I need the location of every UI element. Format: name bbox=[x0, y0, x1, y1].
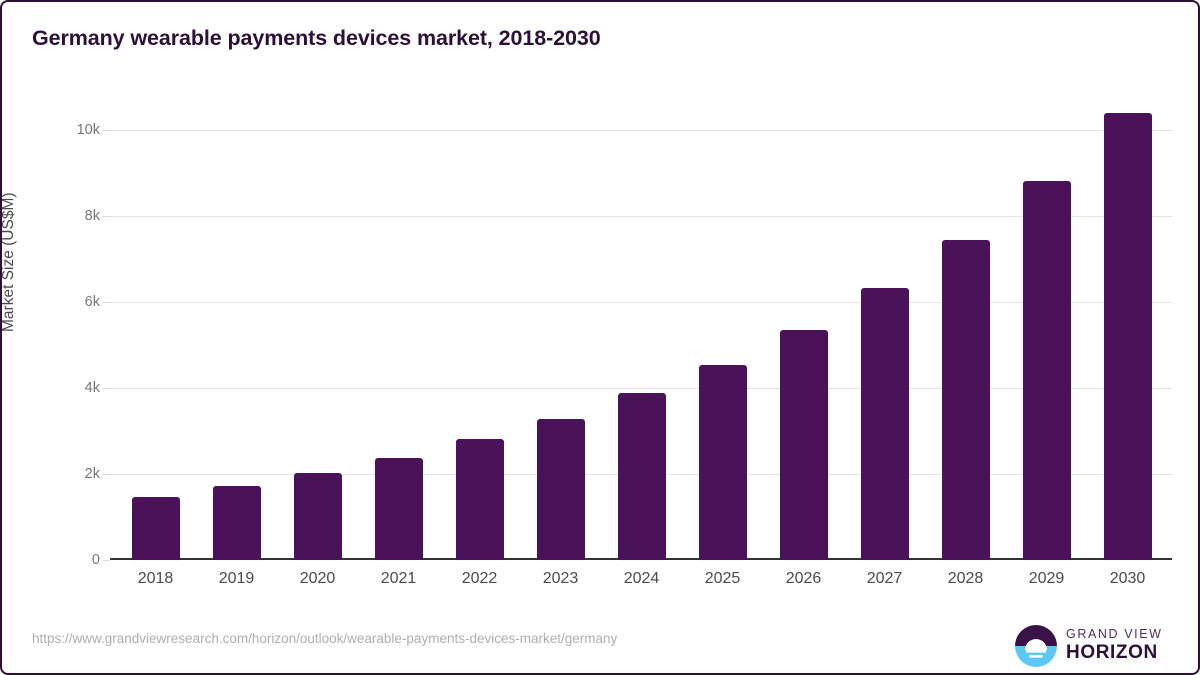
bar[interactable] bbox=[942, 240, 990, 560]
y-axis-title: Market Size (US$M) bbox=[0, 192, 18, 332]
x-tick-label: 2023 bbox=[521, 570, 601, 588]
y-tick-mark bbox=[103, 216, 110, 217]
bar[interactable] bbox=[213, 486, 261, 560]
bar[interactable] bbox=[537, 419, 585, 560]
y-tick-mark bbox=[103, 130, 110, 131]
bar[interactable] bbox=[861, 288, 909, 560]
x-tick-label: 2024 bbox=[602, 570, 682, 588]
logo-line-grand-view: GRAND VIEW bbox=[1066, 627, 1163, 642]
y-tick-label: 10k bbox=[54, 122, 100, 138]
x-tick-label: 2027 bbox=[845, 570, 925, 588]
y-tick-label: 6k bbox=[54, 294, 100, 310]
y-tick-mark bbox=[103, 388, 110, 389]
logo-wordmark: GRAND VIEW HORIZON bbox=[1066, 627, 1163, 663]
bar[interactable] bbox=[618, 393, 666, 560]
y-tick-label: 0 bbox=[54, 552, 100, 568]
x-tick-label: 2030 bbox=[1088, 570, 1168, 588]
x-tick-label: 2021 bbox=[359, 570, 439, 588]
chart-card: Germany wearable payments devices market… bbox=[0, 0, 1200, 675]
y-tick-mark bbox=[103, 474, 110, 475]
brand-logo[interactable]: GRAND VIEW HORIZON bbox=[1014, 622, 1166, 670]
bar[interactable] bbox=[375, 458, 423, 560]
y-tick-label: 4k bbox=[54, 380, 100, 396]
y-tick-label: 2k bbox=[54, 466, 100, 482]
x-tick-label: 2020 bbox=[278, 570, 358, 588]
grand-view-horizon-logo-mark-icon bbox=[1014, 624, 1058, 668]
x-tick-label: 2028 bbox=[926, 570, 1006, 588]
bar[interactable] bbox=[1104, 113, 1152, 560]
y-tick-mark bbox=[103, 302, 110, 303]
bar[interactable] bbox=[294, 473, 342, 560]
y-tick-label: 8k bbox=[54, 208, 100, 224]
x-tick-label: 2025 bbox=[683, 570, 763, 588]
bar[interactable] bbox=[132, 497, 180, 560]
logo-line-horizon: HORIZON bbox=[1066, 642, 1163, 663]
page-title: Germany wearable payments devices market… bbox=[32, 26, 601, 51]
x-tick-label: 2019 bbox=[197, 570, 277, 588]
x-tick-label: 2026 bbox=[764, 570, 844, 588]
x-tick-label: 2029 bbox=[1007, 570, 1087, 588]
x-axis-ticks: 2018201920202021202220232024202520262027… bbox=[110, 570, 1172, 600]
bar[interactable] bbox=[699, 365, 747, 560]
bar[interactable] bbox=[456, 439, 504, 560]
bar[interactable] bbox=[780, 330, 828, 560]
bar-series bbox=[110, 90, 1172, 560]
source-url[interactable]: https://www.grandviewresearch.com/horizo… bbox=[32, 631, 617, 646]
y-tick-mark bbox=[103, 560, 110, 561]
bar[interactable] bbox=[1023, 181, 1071, 560]
x-tick-label: 2018 bbox=[116, 570, 196, 588]
x-tick-label: 2022 bbox=[440, 570, 520, 588]
